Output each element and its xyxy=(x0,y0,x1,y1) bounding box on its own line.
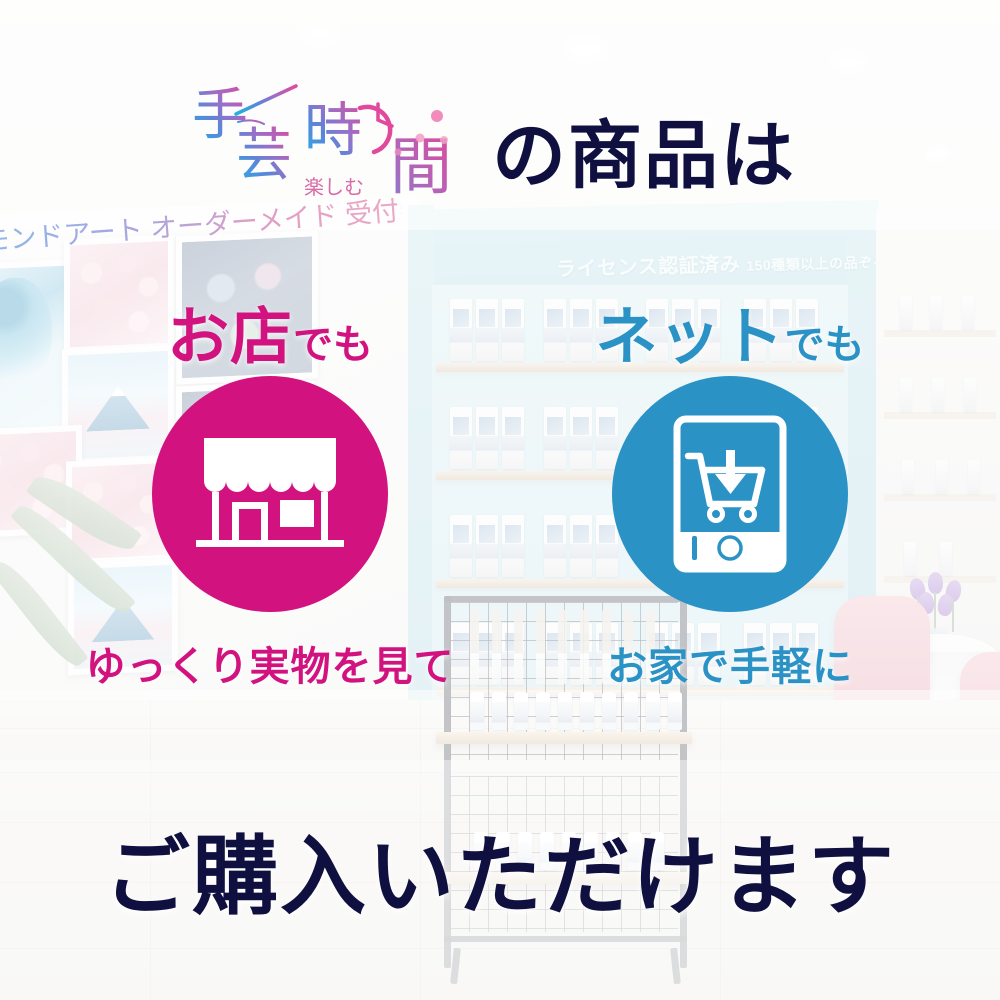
option-store-label-big: お店 xyxy=(167,286,293,376)
option-online[interactable]: ネット でも xyxy=(520,286,940,692)
storefront-icon xyxy=(194,430,346,558)
tablet-cart-download-icon-circle[interactable] xyxy=(612,376,848,612)
overlay-content: 手 芸 時 間 楽しむ の商品は お店 xyxy=(0,0,1000,1000)
option-online-caption: お家で手軽に xyxy=(520,634,940,692)
headline-top: の商品は xyxy=(492,96,796,203)
svg-text:楽しむ: 楽しむ xyxy=(304,175,364,199)
promo-banner: ライセンス認証済み 150種類以上の品ぞろえ xyxy=(0,0,1000,1000)
option-store[interactable]: お店 でも xyxy=(60,286,480,692)
headline-bottom: ご購入いただけます xyxy=(0,806,1000,931)
brand-logo: 手 芸 時 間 楽しむ xyxy=(192,78,482,204)
option-store-caption: ゆっくり実物を見て xyxy=(60,634,480,692)
option-store-label: お店 でも xyxy=(60,286,480,362)
storefront-icon-circle[interactable] xyxy=(152,376,388,612)
option-online-label-small: でも xyxy=(785,312,865,370)
svg-text:芸: 芸 xyxy=(236,123,292,188)
option-online-label: ネット でも xyxy=(520,286,940,362)
svg-text:時: 時 xyxy=(304,96,362,164)
tablet-cart-download-icon xyxy=(672,414,788,574)
option-online-label-big: ネット xyxy=(595,286,784,376)
option-store-label-small: でも xyxy=(293,312,373,370)
